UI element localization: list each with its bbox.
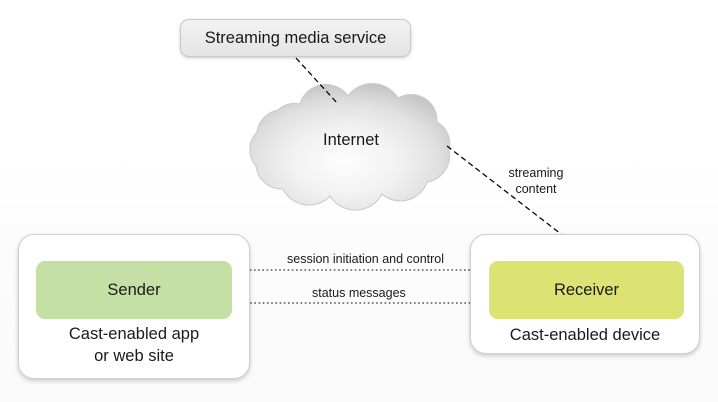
receiver-node: Receiver xyxy=(489,261,684,319)
streaming-content-edge-label: streaming content xyxy=(496,165,576,197)
sender-caption: Cast-enabled app or web site xyxy=(18,324,250,368)
session-initiation-edge-label: session initiation and control xyxy=(287,252,444,266)
diagram-canvas: Streaming media service Internet streami… xyxy=(0,0,718,402)
receiver-label: Receiver xyxy=(554,281,619,300)
internet-cloud-shape xyxy=(250,84,450,211)
sender-caption-line2: or web site xyxy=(18,346,250,368)
streaming-media-service-label: Streaming media service xyxy=(205,29,387,48)
sender-label: Sender xyxy=(107,281,160,300)
receiver-caption-line1: Cast-enabled device xyxy=(470,325,700,347)
receiver-caption: Cast-enabled device xyxy=(470,325,700,347)
streaming-media-service-node: Streaming media service xyxy=(180,19,411,57)
sender-caption-line1: Cast-enabled app xyxy=(18,324,250,346)
sender-node: Sender xyxy=(36,261,232,319)
status-messages-edge-label: status messages xyxy=(312,286,406,300)
streaming-content-line2: content xyxy=(496,181,576,197)
streaming-content-line1: streaming xyxy=(496,165,576,181)
